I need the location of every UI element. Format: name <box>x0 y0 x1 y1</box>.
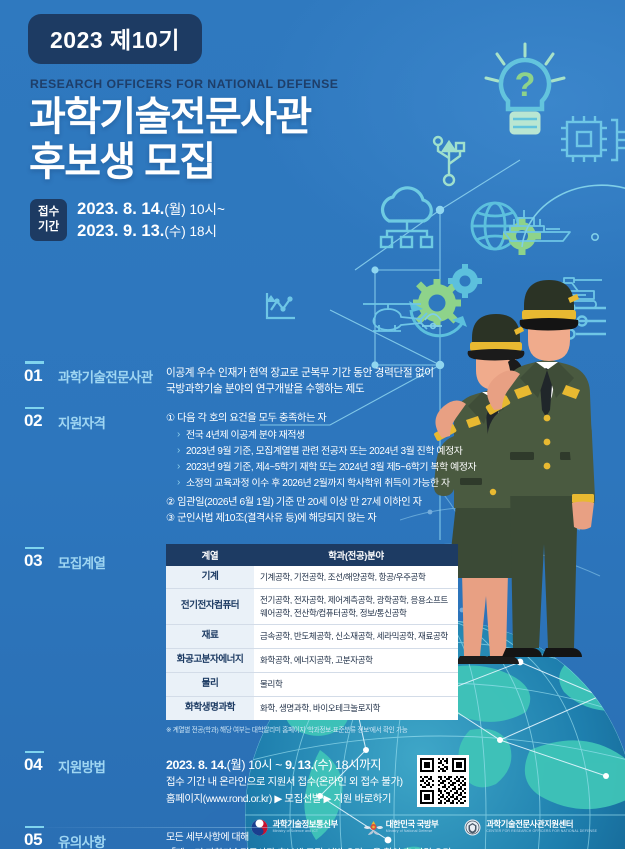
col-header-category: 계열 <box>166 544 254 566</box>
orbit-arc-icon <box>520 175 625 250</box>
logo-kr-name: 과학기술전문사관지원센터 <box>486 820 597 829</box>
section-02-number-wrap: 02 <box>24 404 58 430</box>
section-02-body: ① 다음 각 호의 요건을 모두 충족하는 자 전국 4년제 이공계 분야 재적… <box>166 404 604 528</box>
table-row: 기계 기계공학, 기전공학, 조선/해양공학, 항공/우주공학 <box>166 566 458 589</box>
globe-gear-icon <box>465 195 543 265</box>
usb-icon <box>425 130 473 188</box>
period-tag: 접수 기간 <box>30 199 67 240</box>
english-subtitle: RESEARCH OFFICERS FOR NATIONAL DEFENSE <box>30 77 420 91</box>
qualification-item-1: ① 다음 각 호의 요건을 모두 충족하는 자 <box>166 411 604 428</box>
table-row: 재료 금속공학, 반도체공학, 신소재공학, 세라믹공학, 재료공학 <box>166 625 458 649</box>
title-line-2: 후보생 모집 <box>29 140 420 185</box>
qualification-subitems: 전국 4년제 이공계 분야 재적생 2023년 9월 기준, 모집계열별 관련 … <box>177 428 604 492</box>
logo-text: 대한민국 국방부 Ministry of National Defense <box>386 820 439 834</box>
qualification-list: ① 다음 각 호의 요건을 모두 충족하는 자 전국 4년제 이공계 분야 재적… <box>166 411 604 528</box>
section-01: 01 과학기술전문사관 이공계 우수 인재가 현역 장교로 군복무 기간 동안 … <box>24 358 604 398</box>
apply-start-date: 2023. 8. 14. <box>166 758 227 772</box>
logo-ministry-science-ict: 과학기술정보통신부 Ministry of Science and ICT <box>251 819 338 836</box>
microchip-icon <box>555 110 625 170</box>
title-line-1: 과학기술전문사관 <box>29 95 420 140</box>
logo-text: 과학기술전문사관지원센터 CENTER FOR RESEARCH OFFICER… <box>486 820 597 834</box>
center-emblem-icon <box>464 819 481 836</box>
logo-ministry-national-defense: 대한민국 국방부 Ministry of National Defense <box>364 819 439 836</box>
list-item: 전국 4년제 이공계 분야 재적생 <box>177 428 604 444</box>
generation-badge: 2023 제10기 <box>28 14 202 64</box>
section-02-label: 지원자격 <box>58 404 166 432</box>
apply-method-note: 접수 기간 내 온라인으로 지원서 접수(온라인 외 접수 불가) <box>166 775 403 792</box>
section-rule <box>25 361 44 364</box>
table-header-row: 계열 학과(전공)분야 <box>166 544 458 566</box>
section-03-label: 모집계열 <box>58 544 166 572</box>
logo-en-name: CENTER FOR RESEARCH OFFICERS FOR NATIONA… <box>486 830 597 834</box>
apply-method-lines: 2023. 8. 14.(월) 10시 ~ 9. 13.(수) 18시까지 접수… <box>166 755 403 809</box>
table-row: 물리 물리학 <box>166 672 458 696</box>
period-start-date: 2023. 8. 14. <box>77 200 164 218</box>
section-01-number-wrap: 01 <box>24 358 58 384</box>
logo-kr-name: 과학기술정보통신부 <box>273 820 338 829</box>
majors-table-note: ※ 계열별 전공(학과) 해당 여부는 대학알리미 홈페이지 '학과정보-표준분… <box>166 724 458 734</box>
section-04-label: 지원방법 <box>58 748 166 776</box>
page-title: 과학기술전문사관 후보생 모집 <box>29 95 420 185</box>
svg-text:?: ? <box>515 66 536 104</box>
majors-table-body: 기계 기계공학, 기전공학, 조선/해양공학, 항공/우주공학 전기전자컴퓨터 … <box>166 566 458 720</box>
cell-category: 화학생명과학 <box>166 696 254 719</box>
cell-category: 물리 <box>166 672 254 696</box>
cell-majors: 물리학 <box>254 672 458 696</box>
period-tag-line-1: 접수 <box>38 206 59 218</box>
cell-category: 전기전자컴퓨터 <box>166 589 254 625</box>
section-rule <box>25 751 44 754</box>
logo-text: 과학기술정보통신부 Ministry of Science and ICT <box>273 820 338 834</box>
col-header-majors: 학과(전공)분야 <box>254 544 458 566</box>
section-01-line-2: 국방과학기술 분야의 연구개발을 수행하는 제도 <box>166 381 604 397</box>
poster-root: ? <box>0 0 625 849</box>
section-01-body: 이공계 우수 인재가 현역 장교로 군복무 기간 동안 경력단절 없이 국방과학… <box>166 358 604 398</box>
qr-code[interactable] <box>417 755 469 807</box>
section-rule <box>25 407 44 410</box>
majors-table-head: 계열 학과(전공)분야 <box>166 544 458 566</box>
application-period: 접수 기간 2023. 8. 14.(월) 10시~ 2023. 9. 13.(… <box>30 198 420 243</box>
cell-majors: 기계공학, 기전공학, 조선/해양공학, 항공/우주공학 <box>254 566 458 589</box>
logo-research-officers-center: 과학기술전문사관지원센터 CENTER FOR RESEARCH OFFICER… <box>464 819 597 836</box>
apply-end-date: 9. 13. <box>285 758 314 772</box>
table-row: 화학생명과학 화학, 생명과학, 바이오테크놀로지학 <box>166 696 458 719</box>
period-end-date: 2023. 9. 13. <box>77 222 164 240</box>
apply-end-detail: (수) 18시까지 <box>314 758 381 772</box>
section-01-line-1: 이공계 우수 인재가 현역 장교로 군복무 기간 동안 경력단절 없이 <box>166 365 604 381</box>
table-row: 전기전자컴퓨터 전기공학, 전자공학, 제어계측공학, 광학공학, 응용소프트웨… <box>166 589 458 625</box>
section-03: 03 모집계열 계열 학과(전공)분야 기계 <box>24 544 604 734</box>
qualification-item-3: ③ 군인사법 제10조(결격사유 등)에 해당되지 않는 자 <box>166 511 604 528</box>
table-row: 화공고분자에너지 화학공학, 에너지공학, 고분자공학 <box>166 649 458 673</box>
logo-en-name: Ministry of National Defense <box>386 830 439 834</box>
list-item: 2023년 9월 기준, 제4~5학기 재학 또는 2024년 3월 제5~6학… <box>177 460 604 476</box>
apply-method-row: 2023. 8. 14.(월) 10시 ~ 9. 13.(수) 18시까지 접수… <box>166 755 604 809</box>
apply-deadline-line: 2023. 8. 14.(월) 10시 ~ 9. 13.(수) 18시까지 <box>166 755 403 775</box>
cell-category: 기계 <box>166 566 254 589</box>
logo-en-name: Ministry of Science and ICT <box>273 830 338 834</box>
period-line-1: 2023. 8. 14.(월) 10시~ <box>77 198 225 220</box>
line-chart-icon <box>262 290 302 325</box>
period-end-detail: (수) 18시 <box>164 224 217 239</box>
navy-ship-icon <box>500 205 580 245</box>
period-tag-line-2: 기간 <box>38 221 59 233</box>
period-start-detail: (월) 10시~ <box>164 202 224 217</box>
section-03-number-wrap: 03 <box>24 544 58 570</box>
cell-majors: 화학공학, 에너지공학, 고분자공학 <box>254 649 458 673</box>
mnd-emblem-icon <box>364 819 381 836</box>
cell-majors: 화학, 생명과학, 바이오테크놀로지학 <box>254 696 458 719</box>
section-04-body: 2023. 8. 14.(월) 10시 ~ 9. 13.(수) 18시까지 접수… <box>166 748 604 809</box>
qualification-item-2: ② 임관일(2026년 6월 1일) 기준 만 20세 이상 만 27세 이하인… <box>166 495 604 512</box>
section-04: 04 지원방법 2023. 8. 14.(월) 10시 ~ 9. 13.(수) … <box>24 748 604 809</box>
list-item: 소정의 교육과정 이수 후 2026년 2월까지 학사학위 취득이 가능한 자 <box>177 476 604 492</box>
poster-header: 2023 제10기 RESEARCH OFFICERS FOR NATIONAL… <box>0 0 420 242</box>
apply-start-detail: (월) 10시 ~ <box>227 758 285 772</box>
majors-table-wrap: 계열 학과(전공)분야 기계 기계공학, 기전공학, 조선/해양공학, 항공/우… <box>166 544 458 734</box>
taegeuk-icon <box>251 819 268 836</box>
cell-category: 재료 <box>166 625 254 649</box>
period-line-2: 2023. 9. 13.(수) 18시 <box>77 220 225 242</box>
section-04-number: 04 <box>24 756 58 773</box>
majors-table: 계열 학과(전공)분야 기계 기계공학, 기전공학, 조선/해양공학, 항공/우… <box>166 544 458 720</box>
cell-majors: 전기공학, 전자공학, 제어계측공학, 광학공학, 응용소프트웨어공학, 전산학… <box>254 589 458 625</box>
period-dates: 2023. 8. 14.(월) 10시~ 2023. 9. 13.(수) 18시 <box>77 198 225 243</box>
section-rule <box>25 547 44 550</box>
section-01-label: 과학기술전문사관 <box>58 358 166 386</box>
section-03-body: 계열 학과(전공)분야 기계 기계공학, 기전공학, 조선/해양공학, 항공/우… <box>166 544 604 734</box>
section-03-number: 03 <box>24 552 58 569</box>
logo-kr-name: 대한민국 국방부 <box>386 820 439 829</box>
sections-list: 01 과학기술전문사관 이공계 우수 인재가 현역 장교로 군복무 기간 동안 … <box>24 358 604 849</box>
section-04-number-wrap: 04 <box>24 748 58 774</box>
cell-majors: 금속공학, 반도체공학, 신소재공학, 세라믹공학, 재료공학 <box>254 625 458 649</box>
footer-logos: 과학기술정보통신부 Ministry of Science and ICT 대한… <box>0 805 625 849</box>
section-01-number: 01 <box>24 367 58 384</box>
section-02: 02 지원자격 ① 다음 각 호의 요건을 모두 충족하는 자 전국 4년제 이… <box>24 404 604 528</box>
section-02-number: 02 <box>24 412 58 429</box>
list-item: 2023년 9월 기준, 모집계열별 관련 전공자 또는 2024년 3월 진학… <box>177 444 604 460</box>
lightbulb-question-icon: ? <box>480 40 570 150</box>
cell-category: 화공고분자에너지 <box>166 649 254 673</box>
